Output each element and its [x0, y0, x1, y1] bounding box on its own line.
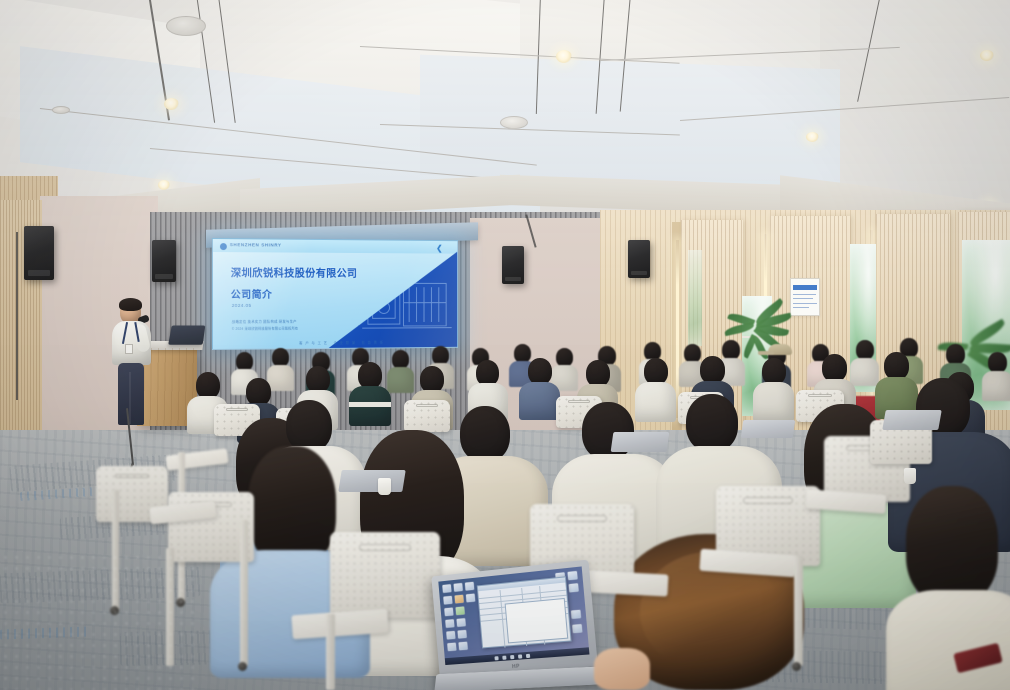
- ceiling-speaker-icon: [500, 116, 528, 129]
- perforated-panel: [0, 552, 200, 690]
- foreground-laptop[interactable]: HP: [432, 568, 608, 690]
- slide-date: 2024.05: [232, 303, 252, 308]
- attendee-laptop: [611, 432, 670, 452]
- wall-speaker: [502, 246, 524, 284]
- taskbar-item[interactable]: [494, 656, 498, 660]
- laptop-lid: HP: [431, 560, 598, 678]
- lectern-laptop: [168, 326, 205, 345]
- taskbar-item[interactable]: [518, 654, 522, 658]
- conference-room-photo: SHENZHEN SHINRY ❮ 深圳欣锐科技股份有: [0, 0, 1010, 690]
- company-logo-text: SHENZHEN SHINRY: [230, 242, 282, 247]
- laptop-screen[interactable]: [438, 566, 589, 665]
- slide-corner-mark-icon: ❮: [436, 244, 442, 253]
- hand: [594, 648, 650, 690]
- wall-speaker: [152, 240, 176, 282]
- dialog-inner-panel[interactable]: [505, 598, 569, 643]
- speaker-cable: [16, 232, 18, 400]
- ceiling-vent-icon: [52, 106, 70, 114]
- paper-cup: [378, 478, 391, 495]
- wall-speaker: [24, 226, 54, 280]
- wall-poster: [790, 278, 820, 316]
- taskbar-item[interactable]: [510, 654, 514, 658]
- company-logo-icon: [220, 243, 227, 250]
- slide-company-title: 深圳欣锐科技股份有限公司: [231, 265, 358, 280]
- attendee-laptop: [882, 410, 942, 430]
- slide-subtitle: 公司简介: [231, 286, 273, 301]
- hp-logo: HP: [512, 664, 520, 671]
- paper-cup: [904, 468, 916, 484]
- attendee-laptop: [338, 470, 405, 492]
- slide-footnote-2: © 2024 深圳欣锐科技股份有限公司版权所有: [232, 326, 298, 331]
- taskbar-item[interactable]: [526, 653, 530, 657]
- slide-nav-row: 客户与工艺 企业愿景 社会责任: [299, 340, 386, 346]
- projection-screen: SHENZHEN SHINRY ❮ 深圳欣锐科技股份有: [212, 238, 458, 350]
- ceiling-speaker-icon: [166, 16, 206, 36]
- wall-speaker: [628, 240, 650, 278]
- spreadsheet-window[interactable]: [477, 576, 572, 648]
- training-chair: [330, 532, 440, 618]
- taskbar-item[interactable]: [502, 655, 506, 659]
- equipment-line-art-icon: [362, 274, 451, 334]
- attendee-laptop: [741, 420, 796, 438]
- slide-footnote-1: 战略定位 技术实力 团队构成 研发与生产: [232, 319, 297, 324]
- badge: [125, 344, 133, 354]
- presenter: [110, 300, 156, 430]
- window: [688, 250, 702, 346]
